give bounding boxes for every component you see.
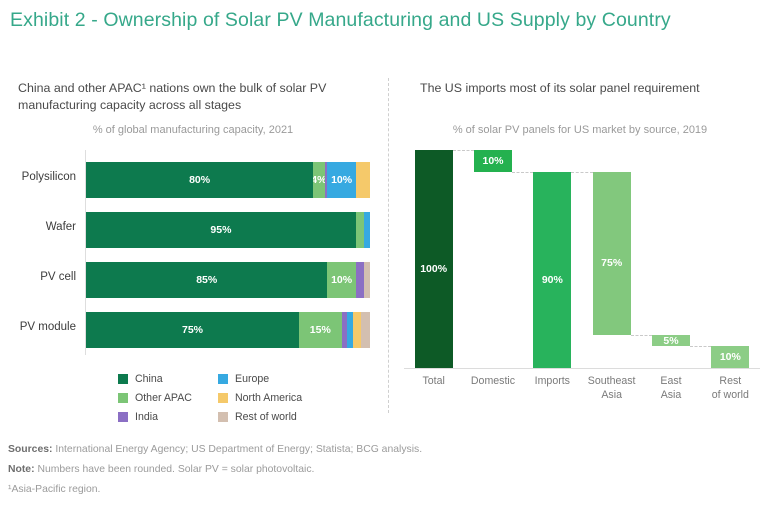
waterfall-x-tick-label: Restof world (701, 374, 760, 402)
waterfall-bar-value-label: 90% (542, 274, 563, 286)
waterfall-connector (571, 172, 592, 173)
legend-item-label: China (135, 373, 163, 385)
legend-item[interactable]: North America (218, 389, 302, 406)
stacked-bar-segment (353, 312, 362, 348)
waterfall-x-tick-line: of world (701, 388, 760, 402)
waterfall-x-tick-line: Asia (641, 388, 700, 402)
waterfall-bar: 10% (474, 150, 512, 172)
stacked-bar-row-label: Wafer (0, 221, 76, 233)
waterfall-x-tick-label: EastAsia (641, 374, 700, 402)
left-chart-legend: ChinaOther APACIndiaEuropeNorth AmericaR… (118, 370, 383, 430)
left-panel-headline: China and other APAC¹ nations own the bu… (18, 80, 368, 114)
stacked-bar-segment (361, 312, 370, 348)
left-panel: China and other APAC¹ nations own the bu… (0, 72, 388, 422)
stacked-bar-row-label: Polysilicon (0, 171, 76, 183)
footer-sources-label: Sources: (8, 444, 52, 455)
waterfall-baseline (404, 368, 760, 369)
waterfall-bar: 5% (652, 335, 690, 346)
legend-swatch-icon (218, 374, 228, 384)
footer-note-label: Note: (8, 464, 35, 475)
stacked-bar-segment: 10% (327, 262, 355, 298)
waterfall-x-tick-line: Southeast (582, 374, 641, 388)
legend-item-label: Europe (235, 373, 269, 385)
waterfall-plot-area: 100%10%90%75%5%10% (404, 150, 760, 368)
footer-note-text: Numbers have been rounded. Solar PV = so… (37, 464, 314, 475)
legend-item[interactable]: Rest of world (218, 408, 302, 425)
stacked-bar: 85%10% (86, 262, 370, 298)
legend-item-label: North America (235, 392, 302, 404)
stacked-bar-row: PV module75%15% (0, 312, 388, 348)
exhibit-title: Exhibit 2 - Ownership of Solar PV Manufa… (10, 8, 730, 33)
waterfall-x-tick-line: Imports (523, 374, 582, 388)
waterfall-connector (453, 150, 474, 151)
legend-item[interactable]: Other APAC (118, 389, 192, 406)
waterfall-x-tick-label: SoutheastAsia (582, 374, 641, 402)
legend-swatch-icon (118, 374, 128, 384)
stacked-bar: 95% (86, 212, 370, 248)
stacked-bar-segment: 4% (313, 162, 324, 198)
manufacturing-capacity-chart: Polysilicon80%4%10%Wafer95%PV cell85%10%… (0, 150, 388, 365)
waterfall-x-tick-label: Domestic (463, 374, 522, 388)
footer: Sources: International Energy Agency; US… (8, 440, 758, 500)
stacked-bar: 80%4%10% (86, 162, 370, 198)
legend-item-label: India (135, 411, 158, 423)
waterfall-connector (512, 172, 533, 173)
stacked-bar-segment: 95% (86, 212, 356, 248)
right-panel-headline: The US imports most of its solar panel r… (420, 80, 760, 97)
stacked-bar-segment (356, 262, 365, 298)
legend-swatch-icon (118, 412, 128, 422)
us-supply-waterfall-chart: 100%10%90%75%5%10% TotalDomesticImportsS… (398, 150, 766, 440)
legend-item[interactable]: Europe (218, 370, 302, 387)
legend-item-label: Rest of world (235, 411, 297, 423)
legend-item[interactable]: India (118, 408, 192, 425)
waterfall-connector (631, 335, 652, 336)
footer-note: Note: Numbers have been rounded. Solar P… (8, 460, 758, 480)
waterfall-x-tick-line: Total (404, 374, 463, 388)
footer-footnote: ¹Asia-Pacific region. (8, 480, 758, 500)
waterfall-bar-value-label: 5% (663, 335, 678, 347)
legend-item[interactable]: China (118, 370, 192, 387)
left-panel-subtitle: % of global manufacturing capacity, 2021 (18, 124, 368, 136)
waterfall-bar-value-label: 100% (420, 263, 447, 275)
stacked-bar-row-label: PV module (0, 321, 76, 333)
waterfall-bar-value-label: 10% (720, 351, 741, 363)
stacked-bar-segment: 75% (86, 312, 299, 348)
stacked-bar-segment (364, 212, 370, 248)
waterfall-x-tick-line: Asia (582, 388, 641, 402)
footer-sources: Sources: International Energy Agency; US… (8, 440, 758, 460)
waterfall-x-tick-line: Rest (701, 374, 760, 388)
stacked-bar-row: Polysilicon80%4%10% (0, 162, 388, 198)
exhibit-page: Exhibit 2 - Ownership of Solar PV Manufa… (0, 0, 768, 520)
stacked-bar-segment (356, 212, 365, 248)
waterfall-x-tick-line: Domestic (463, 374, 522, 388)
stacked-bar-segment: 80% (86, 162, 313, 198)
stacked-bar-row-label: PV cell (0, 271, 76, 283)
stacked-bar: 75%15% (86, 312, 370, 348)
right-panel-subtitle: % of solar PV panels for US market by so… (400, 124, 760, 136)
footer-sources-text: International Energy Agency; US Departme… (55, 444, 422, 455)
waterfall-x-tick-label: Imports (523, 374, 582, 388)
stacked-bar-segment (356, 162, 370, 198)
panel-divider (388, 78, 389, 413)
waterfall-bar: 100% (415, 150, 453, 368)
waterfall-bar-value-label: 10% (482, 155, 503, 167)
waterfall-x-tick-line: East (641, 374, 700, 388)
waterfall-x-tick-label: Total (404, 374, 463, 388)
waterfall-bar-value-label: 75% (601, 257, 622, 269)
waterfall-connector (690, 346, 711, 347)
legend-swatch-icon (218, 393, 228, 403)
stacked-bar-segment: 85% (86, 262, 327, 298)
legend-swatch-icon (218, 412, 228, 422)
waterfall-x-axis-labels: TotalDomesticImportsSoutheastAsiaEastAsi… (404, 374, 760, 420)
stacked-bar-segment: 10% (327, 162, 355, 198)
waterfall-bar: 75% (593, 172, 631, 336)
legend-item-label: Other APAC (135, 392, 192, 404)
legend-column: ChinaOther APACIndia (118, 370, 192, 427)
right-panel: The US imports most of its solar panel r… (390, 72, 768, 422)
stacked-bar-segment (364, 262, 370, 298)
stacked-bar-row: PV cell85%10% (0, 262, 388, 298)
waterfall-bar: 90% (533, 172, 571, 368)
legend-swatch-icon (118, 393, 128, 403)
stacked-bar-segment: 15% (299, 312, 342, 348)
stacked-bar-row: Wafer95% (0, 212, 388, 248)
legend-column: EuropeNorth AmericaRest of world (218, 370, 302, 427)
waterfall-bar: 10% (711, 346, 749, 368)
